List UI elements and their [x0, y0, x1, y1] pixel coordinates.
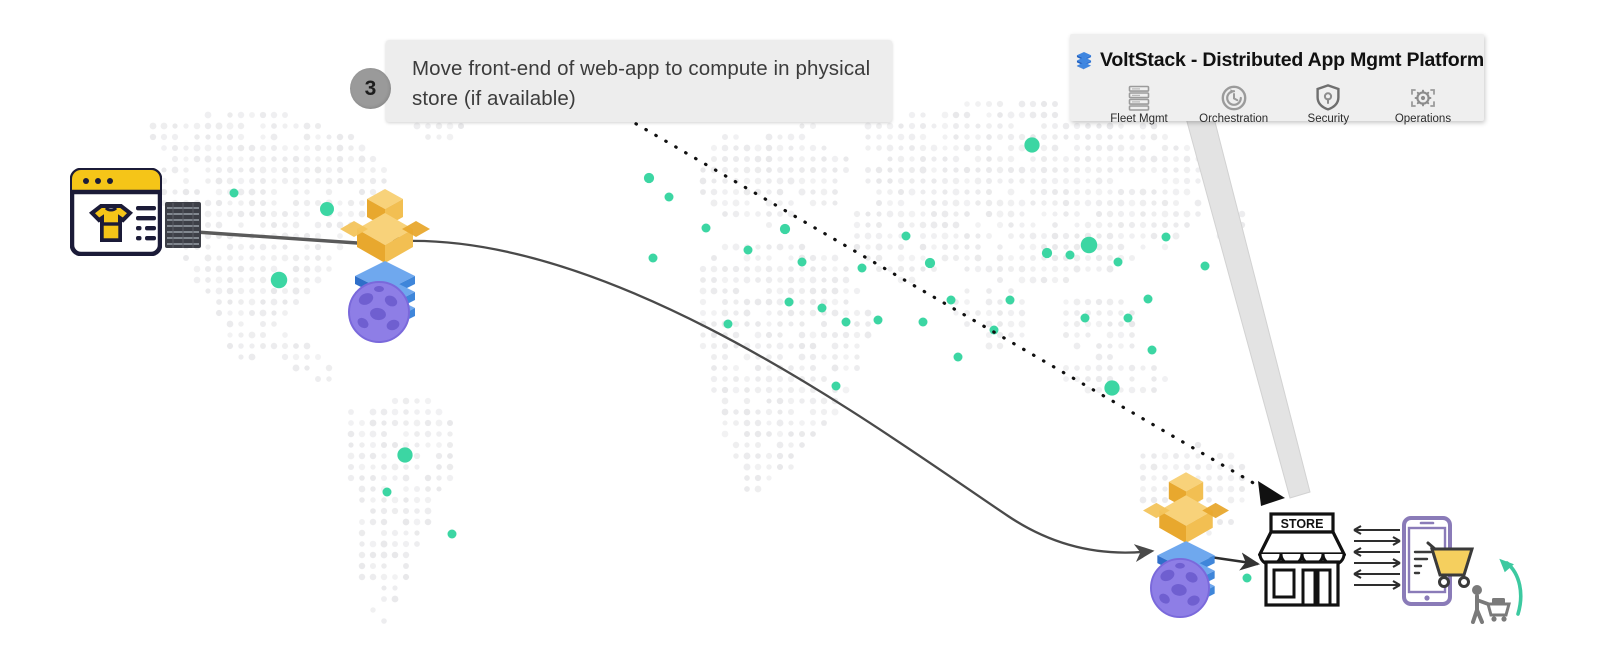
gear-brackets-icon: [1409, 83, 1437, 111]
store-exchange-arrows: [1348, 524, 1406, 592]
clock-rotate-icon: [1221, 83, 1247, 111]
storefront-icon: STORE: [1258, 512, 1346, 607]
tool-label: Operations: [1395, 113, 1451, 125]
tool-security[interactable]: Security: [1281, 83, 1375, 125]
tool-fleet-mgmt[interactable]: Fleet Mgmt: [1092, 83, 1186, 125]
server-stack-icon: [1128, 83, 1150, 111]
smartphone-shopping-cart-icon: [1402, 516, 1474, 606]
mesh-sphere-icon: [1150, 558, 1210, 618]
stack-to-stack-curve: [405, 241, 1152, 553]
shield-lock-icon: [1316, 83, 1340, 111]
callout-text: Move front-end of web-app to compute in …: [412, 54, 876, 114]
panel-tool-row: Fleet Mgmt Orchestration: [1070, 80, 1484, 125]
browser-tshirt-ecommerce-icon: [70, 168, 162, 256]
person-pushing-cart-icon: [1468, 584, 1514, 624]
tool-operations[interactable]: Operations: [1376, 83, 1470, 125]
step-callout-box[interactable]: Move front-end of web-app to compute in …: [386, 40, 892, 122]
stacked-layers-logo-icon: [1076, 40, 1092, 80]
voltstack-platform-panel[interactable]: VoltStack - Distributed App Mgmt Platfor…: [1070, 34, 1484, 121]
panel-title-row: VoltStack - Distributed App Mgmt Platfor…: [1070, 34, 1484, 80]
step-number-badge: 3: [350, 68, 391, 109]
mesh-sphere-icon: [348, 281, 410, 343]
tool-label: Security: [1308, 113, 1350, 125]
tool-label: Fleet Mgmt: [1110, 113, 1168, 125]
server-rack-icon: [163, 200, 203, 250]
tool-orchestration[interactable]: Orchestration: [1187, 83, 1281, 125]
panel-pointer-tail: [1186, 118, 1310, 498]
tool-label: Orchestration: [1199, 113, 1268, 125]
store-sign-label: STORE: [1281, 517, 1324, 531]
panel-title: VoltStack - Distributed App Mgmt Platfor…: [1100, 49, 1484, 72]
dotted-arrow-head: [1258, 481, 1285, 506]
dotted-flow-arrow: [626, 118, 1262, 488]
diagram-canvas: STORE: [0, 0, 1600, 667]
